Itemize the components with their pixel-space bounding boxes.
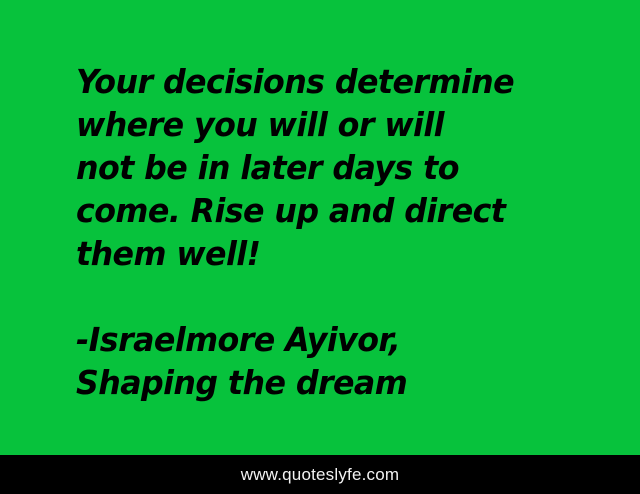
quote-line: come. Rise up and direct [76, 189, 556, 232]
quote-text: Your decisions determine where you will … [76, 60, 576, 275]
footer-bar: www.quoteslyfe.com [0, 455, 640, 494]
site-url-label: www.quoteslyfe.com [241, 455, 400, 494]
quote-line: them well! [76, 232, 556, 275]
quote-line: Your decisions determine [76, 60, 556, 103]
attribution: -Israelmore Ayivor, Shaping the dream [76, 318, 576, 404]
quote-line: not be in later days to [76, 146, 556, 189]
quote-line: where you will or will [76, 103, 556, 146]
quote-content: Your decisions determine where you will … [76, 60, 576, 404]
attribution-author: -Israelmore Ayivor, [76, 318, 556, 361]
attribution-source: Shaping the dream [76, 361, 556, 404]
quote-card: Your decisions determine where you will … [0, 0, 640, 494]
